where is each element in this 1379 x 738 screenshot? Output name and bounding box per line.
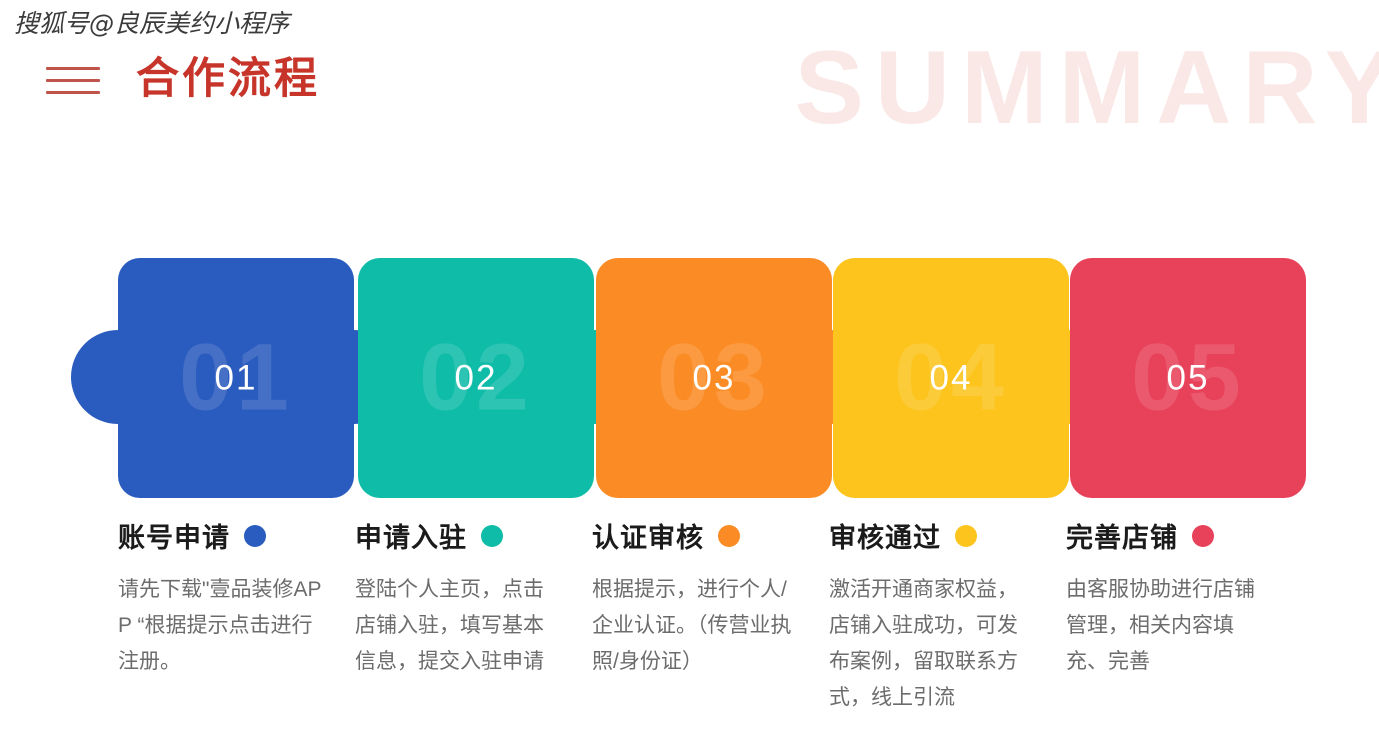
page-header: 合作流程 bbox=[46, 57, 320, 102]
step-color-dot bbox=[718, 525, 740, 547]
step-title: 账号申请 bbox=[118, 516, 230, 555]
step-captions: 账号申请 请先下载"壹品装修APP “根据提示点击进行注册。 申请入驻 登陆个人… bbox=[118, 516, 1378, 716]
puzzle-piece-03[interactable]: 03 03 bbox=[596, 258, 832, 498]
step-body: 根据提示，进行个人/企业认证。（传营业执照/身份证） bbox=[592, 572, 798, 680]
puzzle-row: 01 01 02 02 03 03 04 04 05 05 bbox=[118, 258, 1306, 498]
step-caption-03: 认证审核 根据提示，进行个人/企业认证。（传营业执照/身份证） bbox=[592, 516, 829, 716]
step-caption-04: 审核通过 激活开通商家权益，店铺入驻成功，可发布案例，留取联系方式，线上引流 bbox=[829, 516, 1066, 716]
step-heading-row: 认证审核 bbox=[592, 516, 829, 555]
step-title: 认证审核 bbox=[592, 516, 704, 555]
puzzle-piece-04[interactable]: 04 04 bbox=[833, 258, 1069, 498]
watermark-text: 搜狐号@良辰美约小程序 bbox=[14, 9, 289, 39]
step-heading-row: 审核通过 bbox=[829, 516, 1066, 555]
step-body: 激活开通商家权益，店铺入驻成功，可发布案例，留取联系方式，线上引流 bbox=[829, 572, 1035, 716]
step-body: 登陆个人主页，点击店铺入驻，填写基本信息，提交入驻申请 bbox=[355, 572, 561, 680]
step-color-dot bbox=[955, 525, 977, 547]
step-heading-row: 申请入驻 bbox=[355, 516, 592, 555]
step-title: 申请入驻 bbox=[355, 516, 467, 555]
page-title: 合作流程 bbox=[136, 57, 320, 102]
step-body: 由客服协助进行店铺管理，相关内容填充、完善 bbox=[1066, 572, 1272, 680]
step-title: 完善店铺 bbox=[1066, 516, 1178, 555]
puzzle-piece-01[interactable]: 01 01 bbox=[118, 258, 354, 498]
hamburger-icon bbox=[46, 67, 100, 94]
step-heading-row: 账号申请 bbox=[118, 516, 355, 555]
step-caption-05: 完善店铺 由客服协助进行店铺管理，相关内容填充、完善 bbox=[1066, 516, 1303, 716]
step-caption-02: 申请入驻 登陆个人主页，点击店铺入驻，填写基本信息，提交入驻申请 bbox=[355, 516, 592, 716]
puzzle-piece-05[interactable]: 05 05 bbox=[1070, 258, 1306, 498]
step-caption-01: 账号申请 请先下载"壹品装修APP “根据提示点击进行注册。 bbox=[118, 516, 355, 716]
puzzle-number: 05 bbox=[1070, 361, 1306, 396]
step-color-dot bbox=[244, 525, 266, 547]
step-color-dot bbox=[1192, 525, 1214, 547]
summary-ghost-text: SUMMARY bbox=[795, 36, 1379, 140]
step-body: 请先下载"壹品装修APP “根据提示点击进行注册。 bbox=[118, 572, 324, 680]
step-color-dot bbox=[481, 525, 503, 547]
step-title: 审核通过 bbox=[829, 516, 941, 555]
puzzle-piece-02[interactable]: 02 02 bbox=[358, 258, 594, 498]
step-heading-row: 完善店铺 bbox=[1066, 516, 1303, 555]
